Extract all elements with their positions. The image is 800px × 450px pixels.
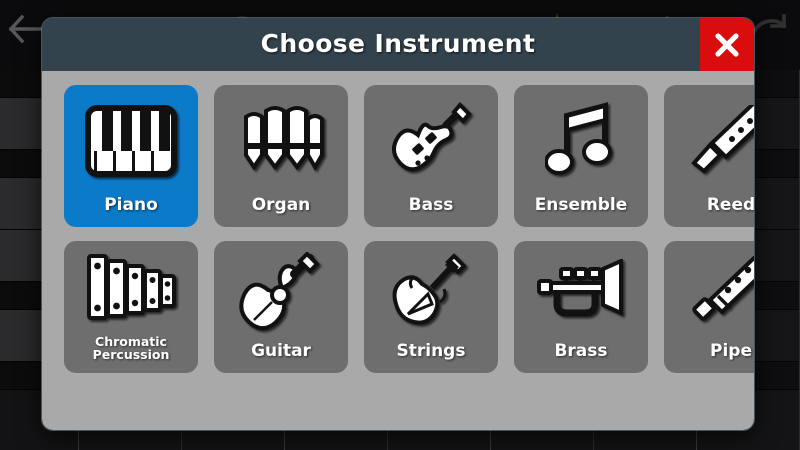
instrument-tile-label: Piano (104, 197, 158, 227)
back-arrow-icon[interactable] (8, 14, 44, 44)
instrument-grid: Piano Organ Bass (64, 85, 754, 417)
instrument-tile-label: Guitar (251, 343, 311, 373)
violin-icon (364, 241, 498, 343)
xylophone-icon (64, 241, 198, 335)
redo-icon[interactable] (750, 14, 790, 40)
instrument-tile-reed[interactable]: Reed (664, 85, 754, 227)
dialog-header: Choose Instrument (42, 18, 754, 71)
instrument-tile-bass[interactable]: Bass (364, 85, 498, 227)
instrument-tile-label: Pipe (710, 343, 752, 373)
instrument-tile-brass[interactable]: Brass (514, 241, 648, 373)
instrument-tile-organ[interactable]: Organ (214, 85, 348, 227)
close-icon (712, 30, 742, 60)
instrument-tile-label: Organ (252, 197, 311, 227)
instrument-tile-ensemble[interactable]: Ensemble (514, 85, 648, 227)
instrument-tile-label: Bass (409, 197, 454, 227)
dialog-title: Choose Instrument (42, 18, 754, 71)
trumpet-icon (514, 241, 648, 343)
music-notes-icon (514, 85, 648, 197)
instrument-tile-guitar[interactable]: Guitar (214, 241, 348, 373)
bass-guitar-icon (364, 85, 498, 197)
instrument-tile-label: Reed (707, 197, 754, 227)
flute-icon (664, 241, 754, 343)
instrument-tile-label: Chromatic Percussion (64, 335, 198, 373)
instrument-tile-label: Brass (554, 343, 607, 373)
organ-pipes-icon (214, 85, 348, 197)
instrument-tile-label: Ensemble (535, 197, 628, 227)
instrument-tile-piano[interactable]: Piano (64, 85, 198, 227)
clarinet-icon (664, 85, 754, 197)
close-button[interactable] (700, 18, 754, 71)
choose-instrument-dialog: Choose Instrument Piano (42, 18, 754, 430)
instrument-tile-pipe[interactable]: Pipe (664, 241, 754, 373)
acoustic-guitar-icon (214, 241, 348, 343)
dialog-body: Piano Organ Bass (42, 71, 754, 430)
instrument-tile-chromatic-percussion[interactable]: Chromatic Percussion (64, 241, 198, 373)
instrument-tile-label: Strings (397, 343, 466, 373)
piano-icon (64, 85, 198, 197)
instrument-tile-strings[interactable]: Strings (364, 241, 498, 373)
